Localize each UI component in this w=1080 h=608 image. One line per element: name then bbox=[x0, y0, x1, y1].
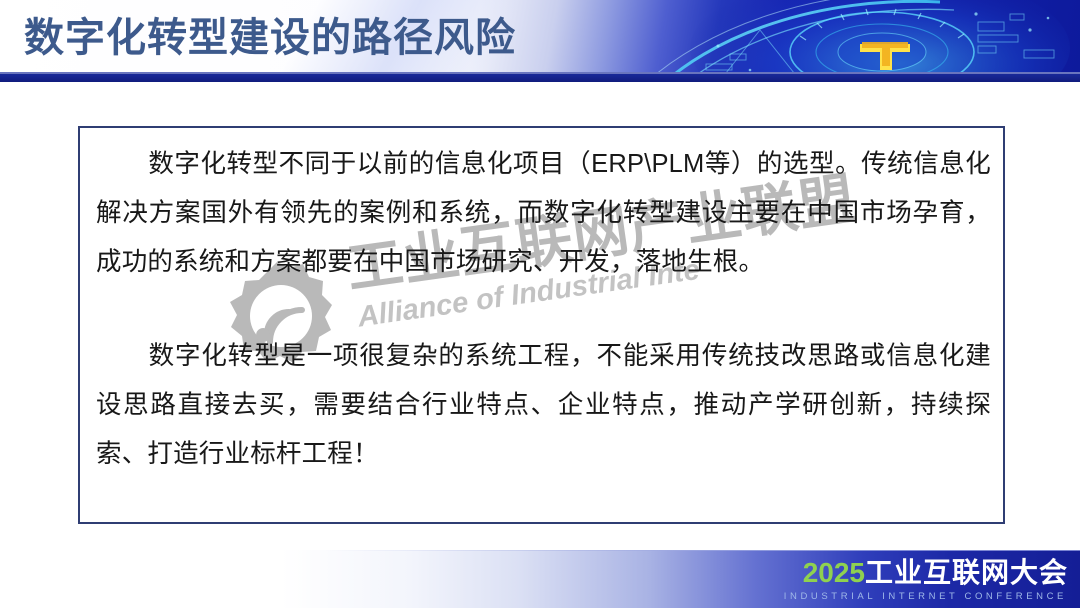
header-accent-highlight bbox=[0, 72, 1080, 74]
conference-name-cn: 工业互联网大会 bbox=[865, 557, 1068, 588]
paragraph-1: 数字化转型不同于以前的信息化项目（ERP\PLM等）的选型。传统信息化解决方案国… bbox=[96, 140, 991, 287]
paragraph-2: 数字化转型是一项很复杂的系统工程，不能采用传统技改思路或信息化建设思路直接去买，… bbox=[96, 332, 991, 479]
slide-footer: 2025工业互联网大会 INDUSTRIAL INTERNET CONFEREN… bbox=[0, 550, 1080, 608]
conference-logo: 2025工业互联网大会 INDUSTRIAL INTERNET CONFEREN… bbox=[784, 558, 1068, 603]
page-title: 数字化转型建设的路径风险 bbox=[24, 12, 516, 64]
content-body: 数字化转型不同于以前的信息化项目（ERP\PLM等）的选型。传统信息化解决方案国… bbox=[96, 140, 991, 515]
footer-top-edge bbox=[0, 550, 1080, 551]
paragraph-1-text: 数字化转型不同于以前的信息化项目（ERP\PLM等）的选型。传统信息化解决方案国… bbox=[96, 150, 991, 276]
paragraph-2-text: 数字化转型是一项很复杂的系统工程，不能采用传统技改思路或信息化建设思路直接去买，… bbox=[96, 342, 991, 468]
slide-root: 数字化转型建设的路径风险 工业互联网产业联盟 Alliance of Indus… bbox=[0, 0, 1080, 608]
conference-name-en: INDUSTRIAL INTERNET CONFERENCE bbox=[784, 590, 1067, 603]
conference-logo-main: 2025工业互联网大会 bbox=[784, 558, 1068, 588]
conference-year: 2025 bbox=[803, 557, 865, 588]
tech-dial-graphic bbox=[610, 0, 1080, 82]
